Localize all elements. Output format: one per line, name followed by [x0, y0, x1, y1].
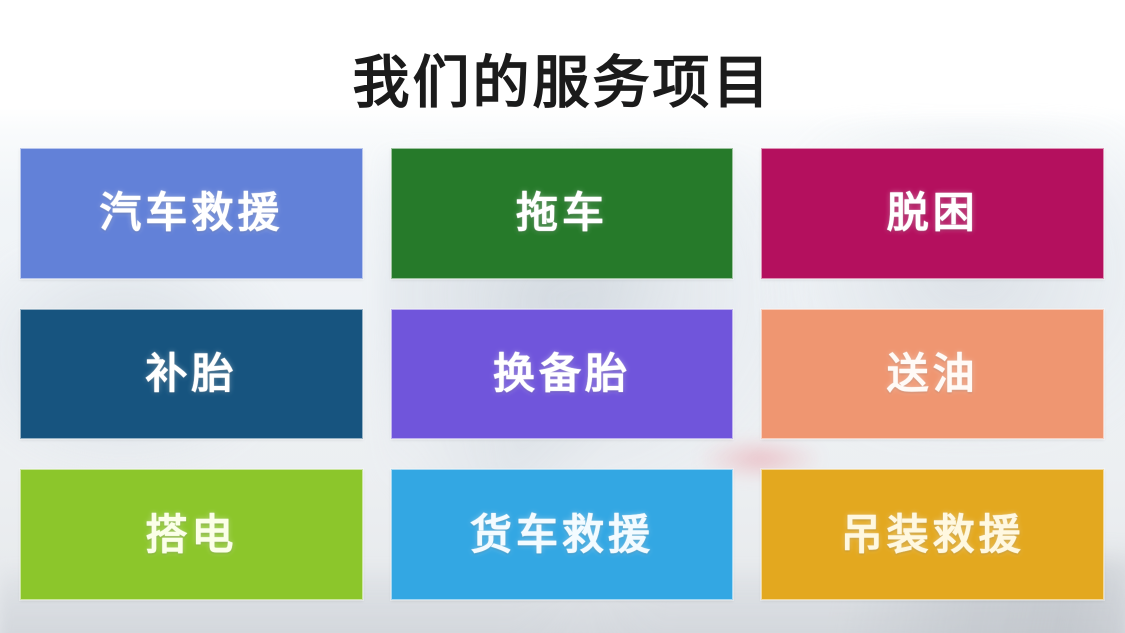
page-title-container: 我们的服务项目	[0, 16, 1125, 152]
service-tile-truck-rescue[interactable]: 货车救援	[391, 469, 734, 600]
service-tile-label: 拖车	[516, 192, 608, 234]
service-tile-car-rescue[interactable]: 汽车救援	[20, 148, 363, 279]
service-tile-label: 送油	[887, 353, 979, 395]
service-tile-label: 货车救援	[470, 514, 654, 556]
service-tile-tow-truck[interactable]: 拖车	[391, 148, 734, 279]
service-tile-label: 补胎	[145, 353, 237, 395]
service-tile-hoisting-rescue[interactable]: 吊装救援	[761, 469, 1104, 600]
service-poster: 我们的服务项目 汽车救援 拖车 脱困 补胎 换备胎 送油 搭电 货车救援 吊装救…	[0, 0, 1125, 633]
service-tile-label: 脱困	[887, 192, 979, 234]
service-tile-tire-repair[interactable]: 补胎	[20, 309, 363, 440]
service-tile-label: 吊装救援	[841, 514, 1025, 556]
service-tile-fuel-delivery[interactable]: 送油	[761, 309, 1104, 440]
service-tile-label: 换备胎	[493, 353, 631, 395]
service-tile-label: 搭电	[145, 514, 237, 556]
service-grid: 汽车救援 拖车 脱困 补胎 换备胎 送油 搭电 货车救援 吊装救援	[20, 148, 1104, 600]
service-tile-label: 汽车救援	[99, 192, 283, 234]
service-tile-spare-tire-change[interactable]: 换备胎	[391, 309, 734, 440]
service-tile-jump-start[interactable]: 搭电	[20, 469, 363, 600]
page-title: 我们的服务项目	[353, 54, 773, 114]
service-tile-extrication[interactable]: 脱困	[761, 148, 1104, 279]
